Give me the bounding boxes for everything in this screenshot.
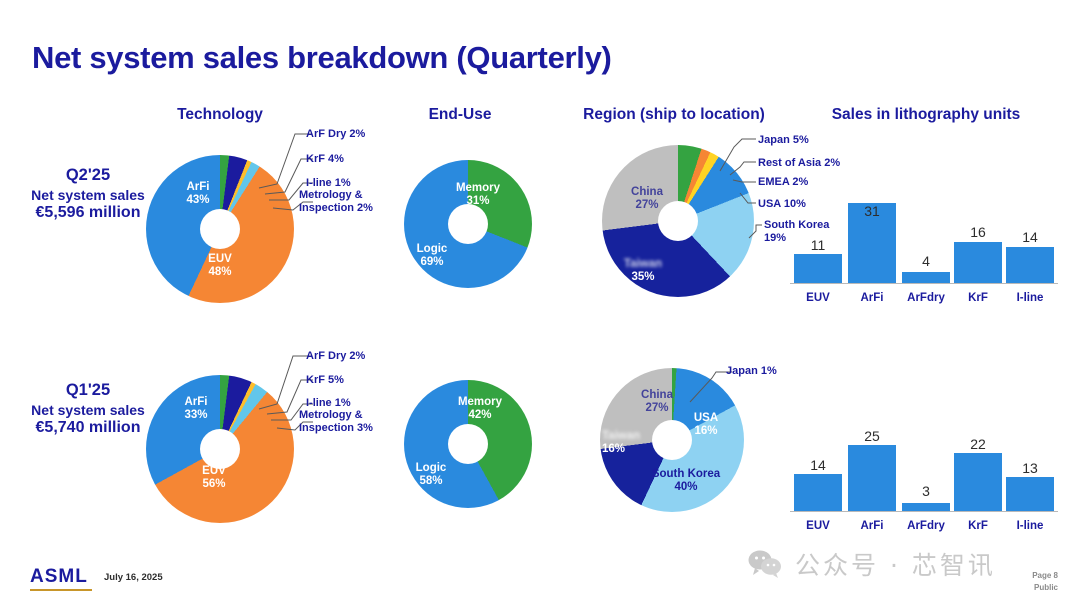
quarter-label-q2-25: Q2'25 [8,166,168,185]
footer-page-number: Page 8 [1032,570,1058,582]
bar-value-i-line-q2-25: 14 [1006,229,1054,245]
asml-logo-rule [30,589,92,591]
bar-category-arfdry-q2-25: ArFdry [900,292,952,304]
bar-category-krf-q1-25: KrF [954,520,1002,532]
region-q1-25-label-south-korea: South Korea40% [640,468,732,494]
bar-value-arfdry-q2-25: 4 [902,253,950,269]
donut-hole [200,209,240,249]
column-header-technology: Technology [160,106,280,124]
end-use-q1-25-label-logic: Logic58% [408,462,454,488]
technology-q1-25-label-arfi: ArFi33% [168,396,224,422]
quarter-value-q1-25: €5,740 million [8,419,168,437]
page-title: Net system sales breakdown (Quarterly) [32,40,612,76]
region-q2-25-callout-japan: Japan 5% [758,134,809,147]
bar-krf [954,242,1002,283]
watermark-text: 公众号 · 芯智讯 [795,546,996,582]
bar-axis [790,283,1058,285]
redacted-label: Taiwan [602,430,640,442]
slide-canvas: Net system sales breakdown (Quarterly) T… [0,0,1070,600]
region-q2-25-label-china: China27% [620,186,674,212]
end-use-q2-25-label-memory: Memory31% [450,182,506,208]
bar-euv [794,474,842,511]
quarter-caption-q1-25: Net system sales [8,402,168,418]
footer-classification: Public [1032,582,1058,594]
quarter-value-q2-25: €5,596 million [8,204,168,222]
bar-category-arfdry-q1-25: ArFdry [900,520,952,532]
technology-q2-25-label-euv: EUV48% [192,253,248,279]
bar-category-arfi-q1-25: ArFi [848,520,896,532]
asml-logo: ASML [30,566,88,588]
region-q2-25-label-taiwan: Taiwan35% [616,258,670,284]
bar-arfdry [902,272,950,283]
bar-value-arfi-q1-25: 25 [848,428,896,444]
bar-value-arfi-q2-25: 31 [848,203,896,219]
bar-value-euv-q1-25: 14 [794,457,842,473]
bar-arfdry [902,503,950,511]
bar-i-line [1006,477,1054,511]
bar-krf [954,453,1002,511]
region-q1-25-callout-japan: Japan 1% [726,365,777,378]
end-use-donut-q2-25 [404,160,532,288]
technology-q1-25-callout-arf-dry: ArF Dry 2% [306,350,365,363]
bar-value-i-line-q1-25: 13 [1006,460,1054,476]
technology-q2-25-label-arfi: ArFi43% [170,181,226,207]
bar-category-euv-q1-25: EUV [794,520,842,532]
region-q1-25-label-taiwan: Taiwan16% [602,430,656,456]
bar-category-euv-q2-25: EUV [794,292,842,304]
region-q2-25-callout-emea: EMEA 2% [758,176,808,189]
region-q1-25-label-usa: USA16% [686,412,726,438]
quarter-caption-q2-25: Net system sales [8,187,168,203]
end-use-q2-25-label-logic: Logic69% [409,243,455,269]
technology-q2-25-callout-krf: KrF 4% [306,153,344,166]
end-use-q1-25-label-memory: Memory42% [452,396,508,422]
bar-category-i-line-q2-25: I-line [1006,292,1054,304]
column-header-end-use: End-Use [400,106,520,124]
donut-hole [448,204,488,244]
region-q1-25-label-china: China27% [630,389,684,415]
watermark: 公众号 · 芯智讯 [748,546,996,582]
donut-hole [448,424,488,464]
bar-category-arfi-q2-25: ArFi [848,292,896,304]
quarter-block-q2-25: Q2'25 Net system sales €5,596 million [8,166,168,222]
wechat-icon [748,550,782,578]
region-q2-25-leader-lines [700,133,760,323]
column-header-litho-units: Sales in lithography units [826,106,1026,124]
technology-q2-25-callout-arf-dry: ArF Dry 2% [306,128,365,141]
quarter-label-q1-25: Q1'25 [8,381,168,400]
column-header-region: Region (ship to location) [560,106,788,124]
bar-value-krf-q2-25: 16 [954,224,1002,240]
footer-date: July 16, 2025 [104,572,163,583]
quarter-block-q1-25: Q1'25 Net system sales €5,740 million [8,381,168,437]
donut-hole [200,429,240,469]
technology-q1-25-label-euv: EUV56% [186,465,242,491]
technology-q2-25-callout-metrology: Metrology & Inspection 2% [299,189,385,215]
bar-i-line [1006,247,1054,283]
bar-arfi [848,445,896,511]
bar-axis [790,511,1058,513]
bar-value-euv-q2-25: 11 [794,237,842,253]
bar-euv [794,254,842,283]
redacted-label: Taiwan [624,258,662,270]
technology-q1-25-callout-krf: KrF 5% [306,374,344,387]
bar-value-arfdry-q1-25: 3 [902,483,950,499]
bar-value-krf-q1-25: 22 [954,436,1002,452]
bar-category-krf-q2-25: KrF [954,292,1002,304]
footer-page-info: Page 8 Public [1032,570,1058,593]
technology-q1-25-callout-metrology: Metrology & Inspection 3% [299,409,385,435]
region-q2-25-callout-rest-of-asia: Rest of Asia 2% [758,157,840,170]
bar-category-i-line-q1-25: I-line [1006,520,1054,532]
